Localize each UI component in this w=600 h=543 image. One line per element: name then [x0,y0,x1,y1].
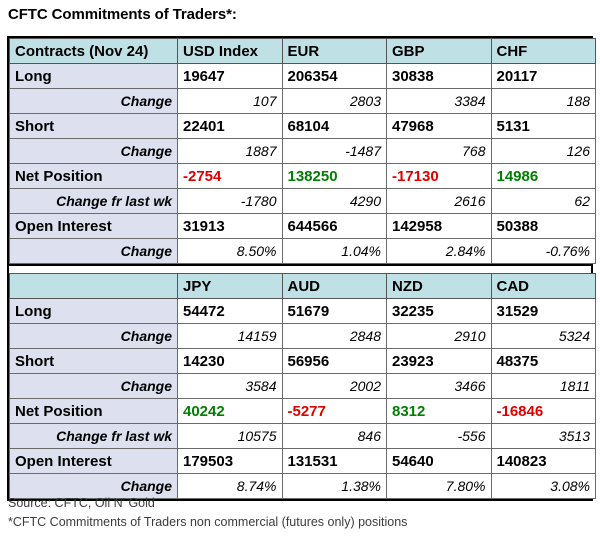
cell-value: 8.50% [178,239,283,264]
cell-value: 2616 [387,189,492,214]
cell-value: 2910 [387,324,492,349]
table-row: Change10728033384188 [10,89,596,114]
table-row: Long54472516793223531529 [10,299,596,324]
table-row: Change14159284829105324 [10,324,596,349]
cell-value: -16846 [491,399,596,424]
table-row: Net Position-2754138250-1713014986 [10,164,596,189]
cell-value: 14159 [178,324,283,349]
cell-value: 20117 [491,64,596,89]
page-title: CFTC Commitments of Traders*: [8,6,237,23]
cell-value: 2.84% [387,239,492,264]
row-label: Long [10,64,178,89]
cell-value: 48375 [491,349,596,374]
column-header-jpy: JPY [178,274,283,299]
footer-note: *CFTC Commitments of Traders non commerc… [8,513,407,532]
footer: Source: CFTC, Oil N' Gold *CFTC Commitme… [8,494,407,532]
cell-value: 56956 [282,349,387,374]
header-contracts-label: Contracts (Nov 24) [10,39,178,64]
column-header-usd-index: USD Index [178,39,283,64]
cell-value: 142958 [387,214,492,239]
header-contracts-label [10,274,178,299]
cot-tables-container: Contracts (Nov 24)USD IndexEURGBPCHFLong… [7,36,593,501]
table-row: Change3584200234661811 [10,374,596,399]
cell-value: 40242 [178,399,283,424]
table-row: Net Position40242-52778312-16846 [10,399,596,424]
table-row: Change fr last wk-17804290261662 [10,189,596,214]
table-row: Short2240168104479685131 [10,114,596,139]
cell-value: 3466 [387,374,492,399]
cell-value: 206354 [282,64,387,89]
cell-value: 2803 [282,89,387,114]
cell-value: 50388 [491,214,596,239]
cell-value: 54472 [178,299,283,324]
cell-value: 3513 [491,424,596,449]
cell-value: 1887 [178,139,283,164]
row-label: Change [10,139,178,164]
row-label: Change fr last wk [10,424,178,449]
cell-value: 3584 [178,374,283,399]
cell-value: 31913 [178,214,283,239]
cell-value: 3384 [387,89,492,114]
cell-value: 126 [491,139,596,164]
row-label: Change [10,239,178,264]
cell-value: 644566 [282,214,387,239]
cell-value: 5131 [491,114,596,139]
table-row: Open Interest17950313153154640140823 [10,449,596,474]
table-row: Long196472063543083820117 [10,64,596,89]
cell-value: 3.08% [491,474,596,499]
cell-value: 8312 [387,399,492,424]
cell-value: 47968 [387,114,492,139]
row-label: Open Interest [10,214,178,239]
cell-value: 131531 [282,449,387,474]
row-label: Change fr last wk [10,189,178,214]
cell-value: 62 [491,189,596,214]
column-header-eur: EUR [282,39,387,64]
cell-value: 138250 [282,164,387,189]
cell-value: -1780 [178,189,283,214]
cell-value: 31529 [491,299,596,324]
cell-value: 768 [387,139,492,164]
cell-value: 22401 [178,114,283,139]
row-label: Long [10,299,178,324]
table-row: Short14230569562392348375 [10,349,596,374]
row-label: Open Interest [10,449,178,474]
cell-value: 68104 [282,114,387,139]
table-header-row: JPYAUDNZDCAD [10,274,596,299]
cell-value: 30838 [387,64,492,89]
row-label: Change [10,324,178,349]
cell-value: 14230 [178,349,283,374]
majors-table-2: JPYAUDNZDCADLong54472516793223531529Chan… [9,273,596,499]
cell-value: 51679 [282,299,387,324]
cell-value: 1.04% [282,239,387,264]
cell-value: 179503 [178,449,283,474]
cell-value: 14986 [491,164,596,189]
column-header-aud: AUD [282,274,387,299]
cell-value: 32235 [387,299,492,324]
cell-value: -556 [387,424,492,449]
cell-value: 1811 [491,374,596,399]
row-label: Net Position [10,399,178,424]
row-label: Net Position [10,164,178,189]
cell-value: -5277 [282,399,387,424]
column-header-nzd: NZD [387,274,492,299]
row-label: Change [10,89,178,114]
cell-value: 2848 [282,324,387,349]
cell-value: 5324 [491,324,596,349]
cell-value: 107 [178,89,283,114]
column-header-cad: CAD [491,274,596,299]
cell-value: -1487 [282,139,387,164]
table-separator [9,264,591,273]
column-header-gbp: GBP [387,39,492,64]
cot-report-page: CFTC Commitments of Traders*: Contracts … [0,0,600,543]
cell-value: -0.76% [491,239,596,264]
cell-value: 10575 [178,424,283,449]
table-row: Change8.50%1.04%2.84%-0.76% [10,239,596,264]
table-row: Open Interest3191364456614295850388 [10,214,596,239]
row-label: Short [10,349,178,374]
cell-value: -2754 [178,164,283,189]
cell-value: 54640 [387,449,492,474]
cell-value: -17130 [387,164,492,189]
row-label: Short [10,114,178,139]
cell-value: 23923 [387,349,492,374]
table-row: Change1887-1487768126 [10,139,596,164]
majors-table-1: Contracts (Nov 24)USD IndexEURGBPCHFLong… [9,38,596,264]
cell-value: 846 [282,424,387,449]
table-header-row: Contracts (Nov 24)USD IndexEURGBPCHF [10,39,596,64]
table-row: Change fr last wk10575846-5563513 [10,424,596,449]
cell-value: 19647 [178,64,283,89]
row-label: Change [10,374,178,399]
footer-source: Source: CFTC, Oil N' Gold [8,494,407,513]
column-header-chf: CHF [491,39,596,64]
cell-value: 2002 [282,374,387,399]
cell-value: 140823 [491,449,596,474]
cell-value: 188 [491,89,596,114]
cell-value: 4290 [282,189,387,214]
